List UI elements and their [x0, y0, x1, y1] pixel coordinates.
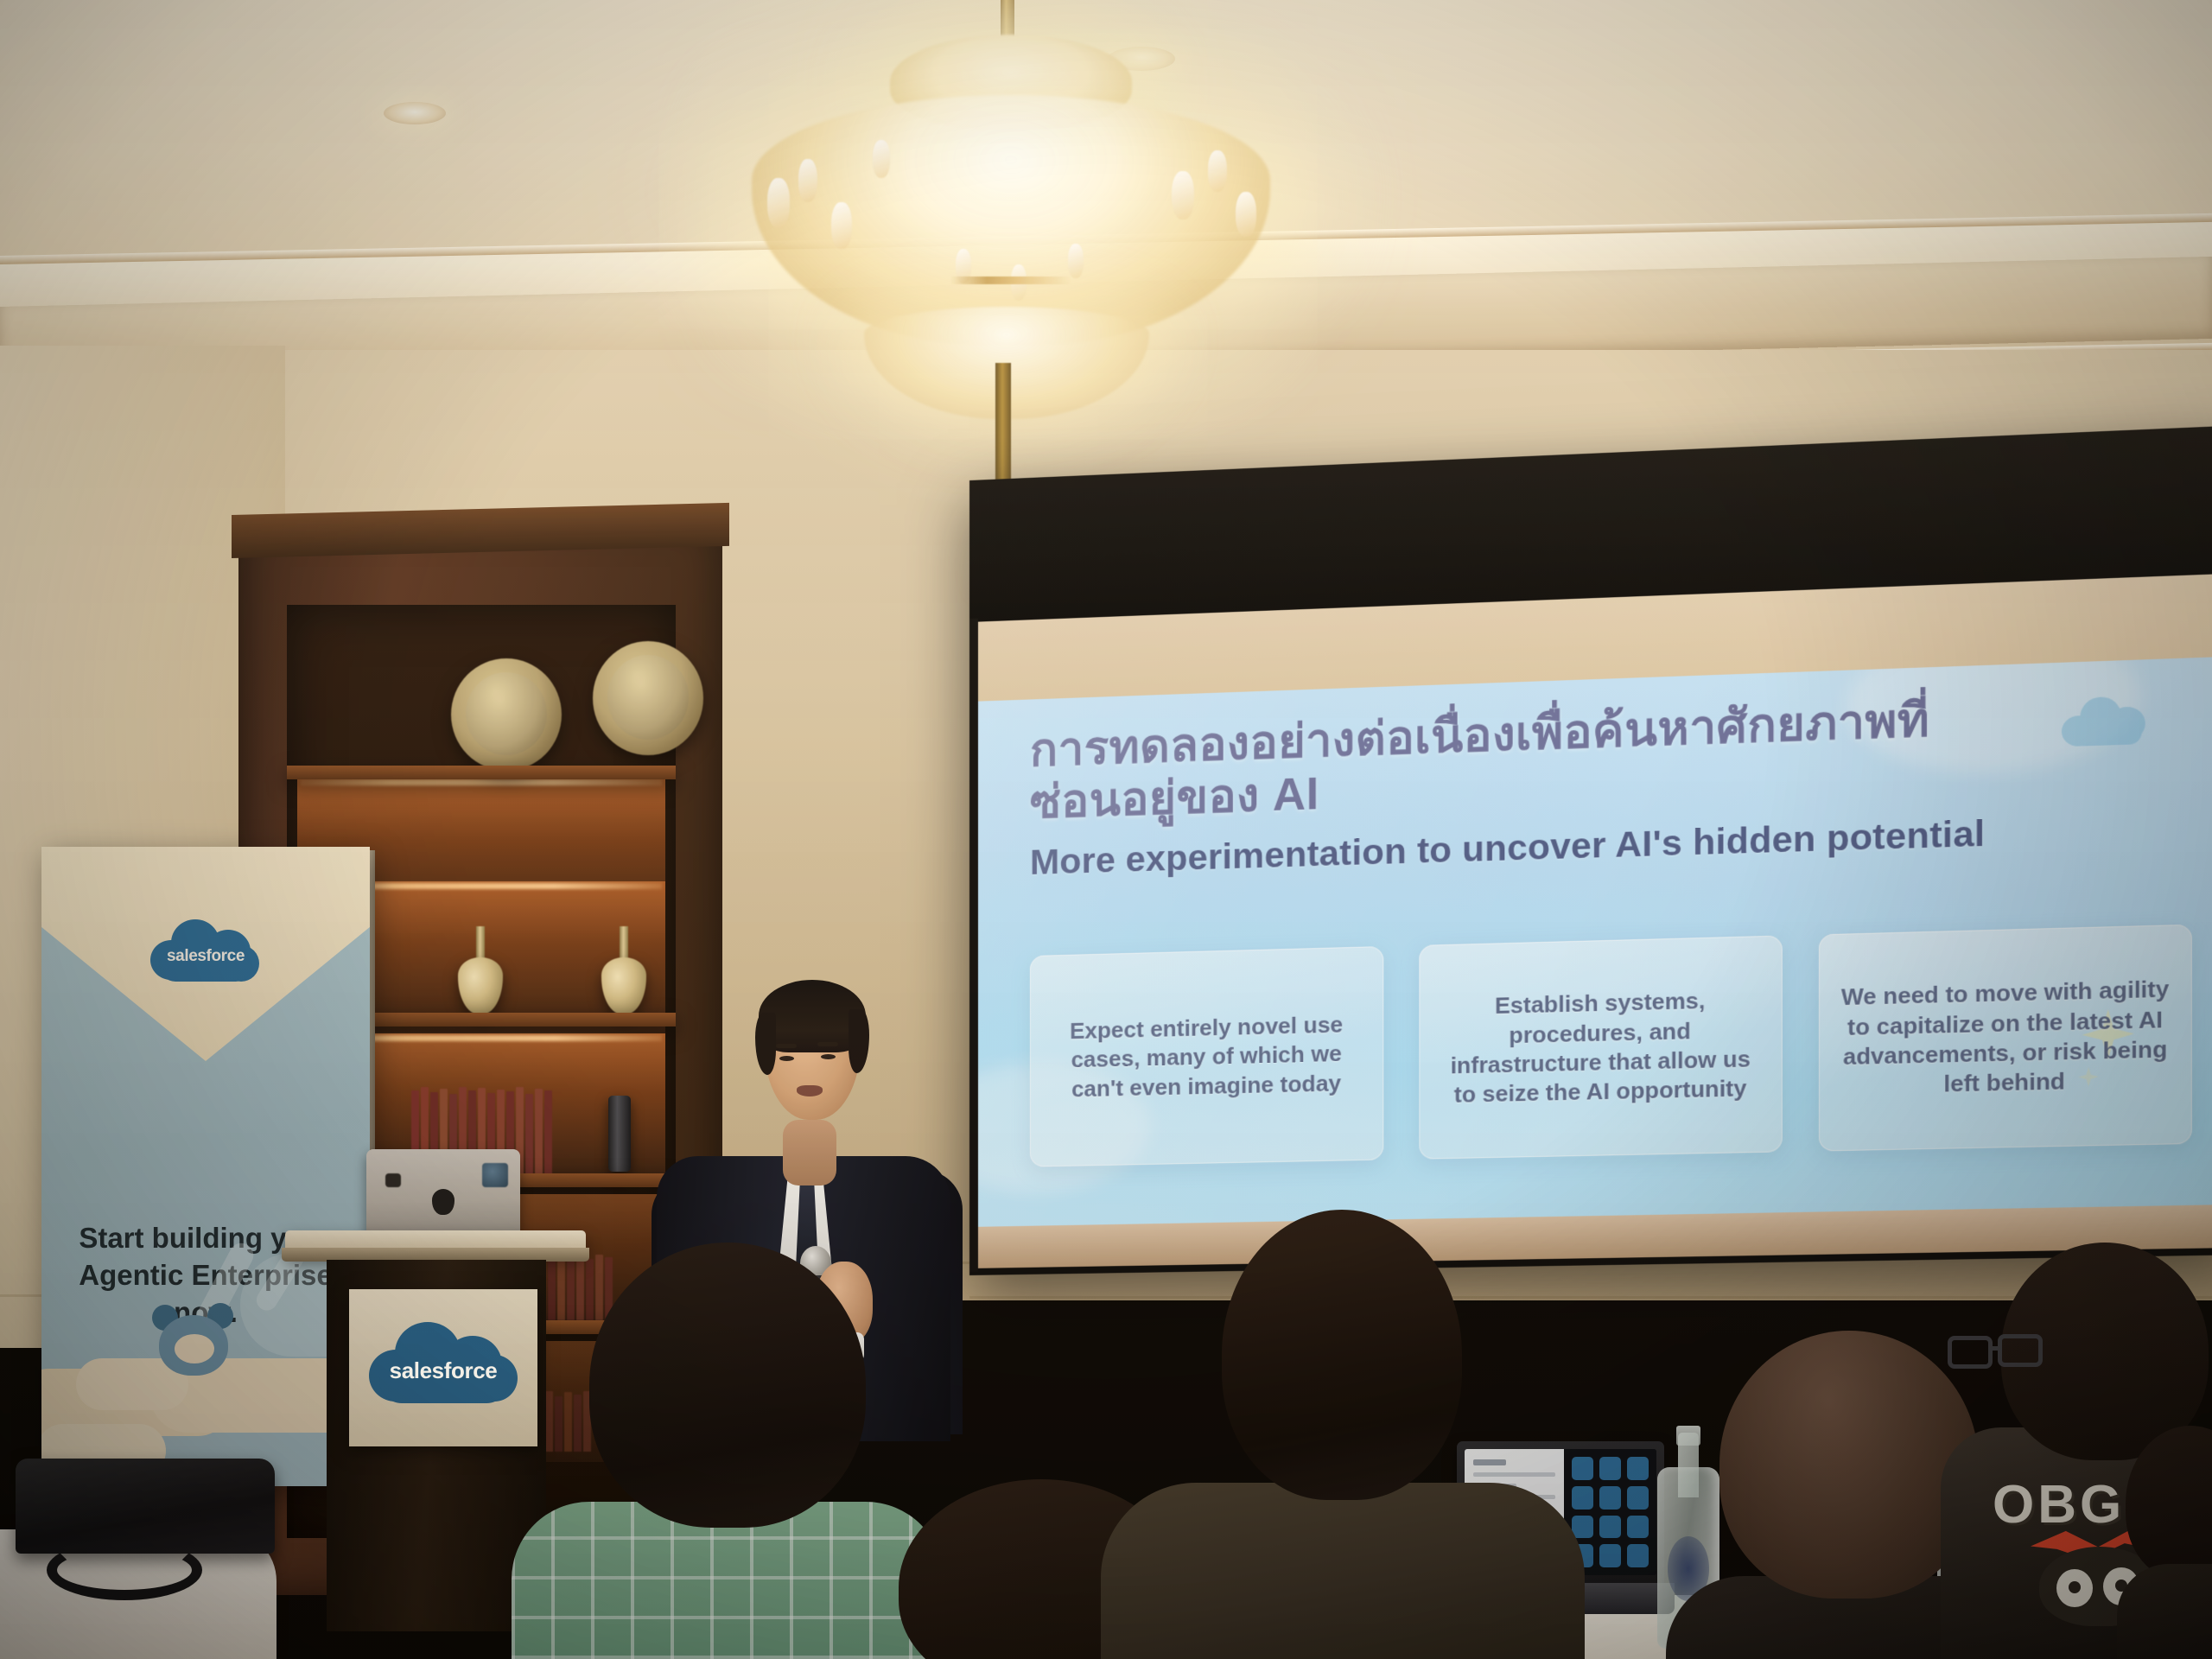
podium-wordmark: salesforce — [367, 1317, 519, 1419]
thermos-flask — [608, 1096, 631, 1172]
mascot-pupil — [2069, 1581, 2081, 1593]
presenter-neck — [783, 1120, 836, 1185]
presenter-mouth — [797, 1085, 823, 1096]
audience-member-far-right-edge — [2126, 1426, 2212, 1659]
eyeglasses-icon — [1948, 1332, 2056, 1372]
slide-card-row: Expect entirely novel use cases, many of… — [1030, 925, 2192, 1167]
bookcase-shelf — [287, 766, 676, 779]
presenter-eyebrow — [776, 1044, 797, 1048]
shelf-light-strip — [301, 779, 662, 785]
bag-strap — [47, 1540, 202, 1600]
ceiling-downlight — [384, 102, 446, 124]
audience-member-center — [1101, 1210, 1585, 1659]
audience-shoulders — [2117, 1564, 2212, 1659]
screen-frame-left — [969, 619, 978, 1272]
banner-cloud-graphics — [41, 1270, 370, 1486]
apple-logo-icon — [432, 1189, 454, 1215]
slide-card: Establish systems, procedures, and infra… — [1419, 936, 1782, 1160]
slide-card-text: Establish systems, procedures, and infra… — [1439, 985, 1763, 1110]
projected-slide: การทดลองอย่างต่อเนื่องเพื่อค้นหาศักยภาพท… — [976, 656, 2212, 1230]
decorative-plate — [451, 658, 562, 771]
podium-brand-sign: salesforce — [349, 1289, 537, 1446]
rollup-banner: salesforce Start building your Agentic E… — [41, 847, 370, 1486]
audience-head — [2126, 1426, 2212, 1581]
presenter-hair-side — [755, 1013, 776, 1075]
slide-card-text: We need to move with agility to capitali… — [1839, 975, 2171, 1102]
slide-title: การทดลองอย่างต่อเนื่องเพื่อค้นหาศักยภาพท… — [1030, 690, 2041, 830]
audience-puffer-jacket — [1101, 1483, 1585, 1659]
banner-wordmark: salesforce — [149, 914, 263, 994]
presenter-eye — [779, 1056, 794, 1061]
audience-head — [1222, 1210, 1462, 1500]
decorative-plate — [593, 641, 703, 755]
chandelier-stem — [995, 363, 1011, 484]
presenter-eyebrow — [817, 1042, 838, 1046]
slide-card: We need to move with agility to capitali… — [1819, 925, 2192, 1152]
laptop-bag-icon — [16, 1459, 275, 1554]
slide-card-text: Expect entirely novel use cases, many of… — [1049, 1010, 1364, 1104]
presenter-hair-side — [849, 1009, 869, 1073]
slide-title-ai-token: AI — [1273, 769, 1319, 821]
macbook-laptop[interactable] — [366, 1149, 520, 1234]
salesforce-cloud-icon: salesforce — [367, 1317, 519, 1419]
projection-screen: การทดลองอย่างต่อเนื่องเพื่อค้นหาศักยภาพท… — [969, 425, 2212, 1275]
laptop-sticker — [482, 1163, 508, 1187]
salesforce-cloud-icon: salesforce — [149, 914, 263, 994]
chandelier-arm — [950, 276, 1071, 284]
presenter-eye — [821, 1054, 836, 1059]
laptop-sticker — [385, 1173, 401, 1187]
audience-head — [1719, 1331, 1979, 1599]
presentation-photo-scene: การทดลองอย่างต่อเนื่องเพื่อค้นหาศักยภาพท… — [0, 0, 2212, 1659]
slide-card: Expect entirely novel use cases, many of… — [1030, 946, 1383, 1167]
astro-mascot-icon — [152, 1300, 235, 1376]
audience-head — [589, 1243, 866, 1528]
